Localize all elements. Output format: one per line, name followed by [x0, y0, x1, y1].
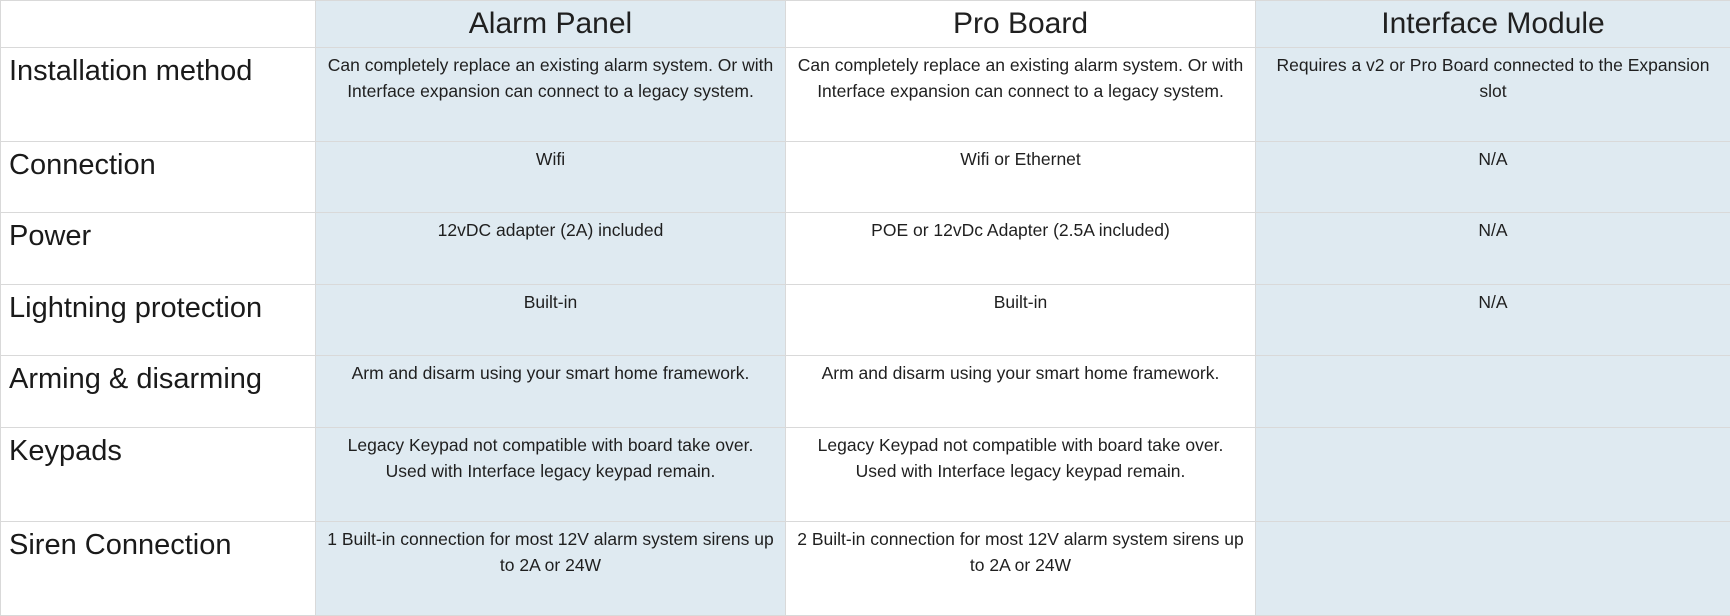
cell-power-pro-board: POE or 12vDc Adapter (2.5A included)	[786, 213, 1256, 285]
cell-siren-connection-alarm-panel: 1 Built-in connection for most 12V alarm…	[316, 521, 786, 615]
cell-connection-alarm-panel: Wifi	[316, 141, 786, 213]
cell-connection-pro-board: Wifi or Ethernet	[786, 141, 1256, 213]
column-header-interface-module: Interface Module	[1256, 1, 1730, 48]
cell-text-line: Legacy Keypad not compatible with board …	[794, 432, 1247, 459]
table-row: Installation method Can completely repla…	[1, 47, 1730, 141]
cell-text-line: Legacy Keypad not compatible with board …	[324, 432, 777, 459]
cell-power-interface-module: N/A	[1256, 213, 1730, 285]
cell-connection-interface-module: N/A	[1256, 141, 1730, 213]
column-header-pro-board: Pro Board	[786, 1, 1256, 48]
row-label-power: Power	[1, 213, 316, 285]
cell-keypads-pro-board: Legacy Keypad not compatible with board …	[786, 427, 1256, 521]
cell-siren-connection-pro-board: 2 Built-in connection for most 12V alarm…	[786, 521, 1256, 615]
cell-lightning-protection-alarm-panel: Built-in	[316, 284, 786, 356]
row-label-lightning-protection: Lightning protection	[1, 284, 316, 356]
cell-power-alarm-panel: 12vDC adapter (2A) included	[316, 213, 786, 285]
cell-keypads-alarm-panel: Legacy Keypad not compatible with board …	[316, 427, 786, 521]
row-label-connection: Connection	[1, 141, 316, 213]
table-row: Lightning protection Built-in Built-in N…	[1, 284, 1730, 356]
table-row: Connection Wifi Wifi or Ethernet N/A	[1, 141, 1730, 213]
table-row: Keypads Legacy Keypad not compatible wit…	[1, 427, 1730, 521]
table-row: Arming & disarming Arm and disarm using …	[1, 356, 1730, 428]
row-label-keypads: Keypads	[1, 427, 316, 521]
product-comparison-table: Alarm Panel Pro Board Interface Module I…	[0, 0, 1730, 616]
cell-siren-connection-interface-module	[1256, 521, 1730, 615]
cell-arming-disarming-alarm-panel: Arm and disarm using your smart home fra…	[316, 356, 786, 428]
header-empty-corner	[1, 1, 316, 48]
cell-lightning-protection-pro-board: Built-in	[786, 284, 1256, 356]
cell-keypads-interface-module	[1256, 427, 1730, 521]
cell-installation-method-alarm-panel: Can completely replace an existing alarm…	[316, 47, 786, 141]
table-row: Power 12vDC adapter (2A) included POE or…	[1, 213, 1730, 285]
cell-arming-disarming-pro-board: Arm and disarm using your smart home fra…	[786, 356, 1256, 428]
cell-arming-disarming-interface-module	[1256, 356, 1730, 428]
row-label-installation-method: Installation method	[1, 47, 316, 141]
cell-installation-method-interface-module: Requires a v2 or Pro Board connected to …	[1256, 47, 1730, 141]
column-header-alarm-panel: Alarm Panel	[316, 1, 786, 48]
cell-installation-method-pro-board: Can completely replace an existing alarm…	[786, 47, 1256, 141]
cell-text-line: Used with Interface legacy keypad remain…	[324, 458, 777, 485]
cell-text-line: Used with Interface legacy keypad remain…	[794, 458, 1247, 485]
cell-lightning-protection-interface-module: N/A	[1256, 284, 1730, 356]
row-label-siren-connection: Siren Connection	[1, 521, 316, 615]
row-label-arming-disarming: Arming & disarming	[1, 356, 316, 428]
table-header-row: Alarm Panel Pro Board Interface Module	[1, 1, 1730, 48]
table-row: Siren Connection 1 Built-in connection f…	[1, 521, 1730, 615]
